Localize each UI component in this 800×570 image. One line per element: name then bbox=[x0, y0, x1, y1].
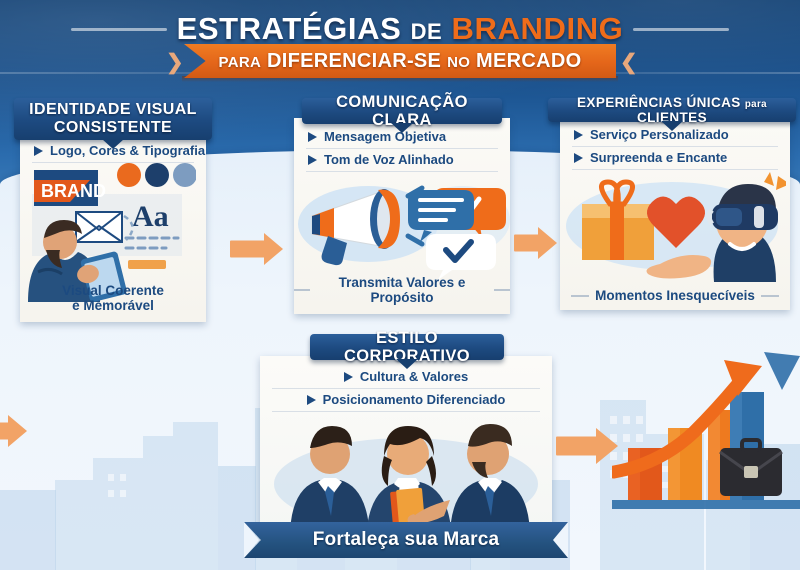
growth-chart bbox=[612, 352, 800, 518]
bullet-label: Posicionamento Diferenciado bbox=[323, 392, 506, 407]
panel-footer-text: Visual Coerente e Memorável bbox=[62, 283, 164, 314]
panel-title: COMUNICAÇÃO CLARA bbox=[310, 93, 494, 130]
panel-title-small: para bbox=[745, 99, 767, 110]
bullet-label: Surpreenda e Encante bbox=[590, 150, 727, 165]
ribbon-notch-left bbox=[244, 522, 259, 558]
bullet-label: Tom de Voz Alinhado bbox=[324, 152, 454, 167]
panel-footer: Visual Coerente e Memorável bbox=[20, 283, 206, 314]
arrow-head bbox=[264, 233, 283, 265]
footer-rule-left bbox=[294, 289, 310, 291]
title-rule-right bbox=[633, 28, 729, 31]
bullet-arrow-icon bbox=[34, 146, 43, 156]
customer-experience-illustration bbox=[564, 170, 786, 282]
bullet-label: Logo, Cores & Tipografia bbox=[50, 143, 205, 158]
svg-text:Aa: Aa bbox=[132, 200, 169, 233]
panel-title: ESTILO CORPORATIVO bbox=[318, 329, 496, 366]
bullet-arrow-icon bbox=[307, 395, 316, 405]
title-accent: BRANDING bbox=[452, 11, 624, 46]
panel-footer: Transmita Valores e Propósito bbox=[294, 275, 510, 306]
chevron-right-icon: ❮ bbox=[620, 50, 638, 75]
panel-footer-text: Momentos Inesquecíveis bbox=[595, 288, 755, 304]
panel-title: IDENTIDADE VISUAL CONSISTENTE bbox=[29, 101, 197, 137]
bullet-arrow-icon bbox=[574, 130, 583, 140]
panel-header: ESTILO CORPORATIVO bbox=[310, 334, 504, 360]
list-item[interactable]: Surpreenda e Encante bbox=[572, 147, 778, 170]
subtitle-mid: DIFERENCIAR-SE bbox=[267, 50, 441, 72]
flow-arrow-1 bbox=[230, 232, 284, 266]
panel-header: COMUNICAÇÃO CLARA bbox=[302, 98, 502, 124]
title-text: ESTRATÉGIAS DE BRANDING bbox=[177, 11, 624, 47]
footer-rule-left bbox=[571, 295, 589, 297]
briefcase-icon bbox=[720, 440, 782, 496]
bullet-label: Mensagem Objetiva bbox=[324, 129, 446, 144]
infographic-canvas: ESTRATÉGIAS DE BRANDING ❯ ❮ PARA DIFEREN… bbox=[0, 0, 800, 570]
footer-line-1: Visual Coerente bbox=[62, 283, 164, 299]
panel-bullet-list: Cultura & Valores Posicionamento Diferen… bbox=[260, 366, 552, 412]
footer-ribbon-label: Fortaleça sua Marca bbox=[313, 529, 500, 551]
panel-card: Cultura & Valores Posicionamento Diferen… bbox=[260, 356, 552, 546]
panel-card: Serviço Personalizado Surpreenda e Encan… bbox=[560, 116, 790, 310]
panel-card: Mensagem Objetiva Tom de Voz Alinhado Tr… bbox=[294, 118, 510, 314]
list-item[interactable]: Posicionamento Diferenciado bbox=[272, 389, 540, 412]
arrow-shaft bbox=[556, 437, 598, 456]
megaphone-communication-illustration bbox=[294, 172, 510, 284]
list-item[interactable]: Cultura & Valores bbox=[272, 366, 540, 389]
subtitle-no: NO bbox=[447, 54, 470, 71]
panel-title-post: CLIENTES bbox=[637, 110, 707, 125]
svg-text:BRAND: BRAND bbox=[41, 181, 106, 201]
arrow-shaft bbox=[230, 241, 266, 258]
bullet-arrow-icon bbox=[308, 155, 317, 165]
bullet-arrow-icon bbox=[574, 153, 583, 163]
blue-accent-arrow bbox=[764, 352, 800, 390]
panel-experiencias-unicas[interactable]: Serviço Personalizado Surpreenda e Encan… bbox=[548, 98, 798, 122]
arrow-shaft bbox=[514, 235, 540, 252]
bullet-arrow-icon bbox=[308, 132, 317, 142]
panel-card: BRAND Aa bbox=[20, 132, 206, 322]
flow-arrow-3 bbox=[556, 428, 618, 464]
footer-rule-right bbox=[494, 289, 510, 291]
subtitle-ribbon: PARA DIFERENCIAR-SE NO MERCADO bbox=[184, 44, 616, 78]
footer-line-2: e Memorável bbox=[62, 298, 164, 314]
subtitle-para: PARA bbox=[219, 54, 262, 71]
title-rule-left bbox=[71, 28, 167, 31]
title-de: DE bbox=[411, 19, 443, 44]
title-main: ESTRATÉGIAS bbox=[177, 11, 402, 46]
panel-title-line-1: IDENTIDADE VISUAL bbox=[29, 101, 197, 119]
panel-estilo-corporativo[interactable]: Cultura & Valores Posicionamento Diferen… bbox=[248, 334, 564, 360]
arrow-head bbox=[8, 415, 27, 447]
flow-arrow-edge-left bbox=[0, 414, 26, 448]
bullet-arrow-icon bbox=[344, 372, 353, 382]
panel-header: EXPERIÊNCIAS ÚNICAS para CLIENTES bbox=[548, 98, 796, 122]
arrow-head bbox=[538, 227, 557, 259]
panel-title: EXPERIÊNCIAS ÚNICAS para CLIENTES bbox=[556, 95, 788, 126]
subtitle-end: MERCADO bbox=[476, 50, 581, 72]
subtitle-text: PARA DIFERENCIAR-SE NO MERCADO bbox=[219, 50, 582, 73]
panel-title-line-2: CONSISTENTE bbox=[29, 119, 197, 137]
brand-identity-illustration: BRAND Aa bbox=[20, 168, 206, 302]
ribbon-notch-right bbox=[553, 522, 568, 558]
panel-identidade-visual[interactable]: BRAND Aa bbox=[6, 98, 220, 140]
bullet-label: Serviço Personalizado bbox=[590, 127, 729, 142]
panel-title-pre: EXPERIÊNCIAS ÚNICAS bbox=[577, 95, 741, 110]
panel-comunicacao-clara[interactable]: Mensagem Objetiva Tom de Voz Alinhado Tr… bbox=[284, 98, 520, 124]
footer-rule-right bbox=[761, 295, 779, 297]
panel-footer-text: Transmita Valores e Propósito bbox=[316, 275, 488, 306]
panel-header: IDENTIDADE VISUAL CONSISTENTE bbox=[14, 98, 212, 140]
panel-footer: Momentos Inesquecíveis bbox=[560, 288, 790, 304]
brand-color-swatches bbox=[116, 162, 196, 188]
footer-ribbon: Fortaleça sua Marca bbox=[244, 522, 568, 558]
list-item[interactable]: Tom de Voz Alinhado bbox=[306, 149, 498, 172]
flow-arrow-2 bbox=[514, 226, 558, 260]
chevron-left-icon: ❯ bbox=[166, 50, 184, 75]
bullet-label: Cultura & Valores bbox=[360, 369, 468, 384]
